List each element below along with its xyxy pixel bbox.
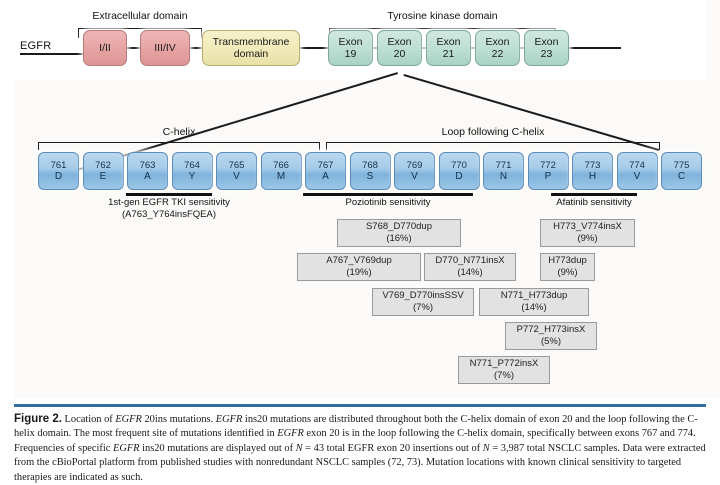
mutation-p772-h773insx-label: P772_H773insX: [517, 324, 586, 336]
residue-number-767: 767: [318, 160, 334, 172]
exon-box-22[interactable]: Exon22: [475, 30, 520, 66]
mutation-a767-v769dup[interactable]: A767_V769dup(19%): [297, 253, 421, 281]
domain-box-transmembrane-line-0: Transmembrane: [213, 36, 290, 48]
mutation-n771-h773dup[interactable]: N771_H773dup(14%): [479, 288, 589, 316]
backbone-connector-1: [127, 47, 140, 49]
exon-box-19[interactable]: Exon19: [328, 30, 373, 66]
exon-box-23[interactable]: Exon23: [524, 30, 569, 66]
residue-aa-775: C: [678, 171, 685, 183]
exon-box-20[interactable]: Exon20: [377, 30, 422, 66]
exon-box-21-line-1: 21: [443, 48, 455, 60]
residue-aa-772: P: [545, 171, 552, 183]
residue-box-764[interactable]: 764Y: [172, 152, 213, 190]
caption-s5: ins20 mutations are displayed out of: [140, 443, 296, 454]
residue-number-773: 773: [585, 160, 601, 172]
mutation-v769-d770inssv-label: V769_D770insSSV: [382, 290, 463, 302]
residue-aa-765: V: [233, 171, 240, 183]
exon-box-19-line-1: 19: [345, 48, 357, 60]
caption-i4: EGFR: [113, 443, 140, 454]
residue-number-769: 769: [407, 160, 423, 172]
residue-aa-769: V: [411, 171, 418, 183]
exon-box-23-line-0: Exon: [535, 36, 559, 48]
backbone-connector-3: [300, 47, 328, 49]
mutation-p772-h773insx-frequency: (5%): [541, 336, 561, 348]
mutation-d770-n771insx[interactable]: D770_N771insX(14%): [424, 253, 516, 281]
poziotinib-sensitivity-bar: [303, 193, 473, 196]
residue-box-769[interactable]: 769V: [394, 152, 435, 190]
mutation-h773dup[interactable]: H773dup(9%): [540, 253, 595, 281]
residue-number-761: 761: [51, 160, 67, 172]
residue-box-772[interactable]: 772P: [528, 152, 569, 190]
residue-box-768[interactable]: 768S: [350, 152, 391, 190]
mutation-d770-n771insx-frequency: (14%): [457, 267, 482, 279]
domain-box-III-IV[interactable]: III/IV: [140, 30, 190, 66]
mutation-s768-d770dup-frequency: (16%): [386, 233, 411, 245]
mutation-a767-v769dup-frequency: (19%): [346, 267, 371, 279]
mutation-a767-v769dup-label: A767_V769dup: [326, 255, 392, 267]
first-gen-tki-sensitivity-label: 1st-gen EGFR TKI sensitivity(A763_Y764in…: [64, 197, 274, 220]
residue-aa-764: Y: [189, 171, 196, 183]
residue-box-775[interactable]: 775C: [661, 152, 702, 190]
exon-box-23-line-1: 23: [541, 48, 553, 60]
backbone-connector-2: [190, 47, 202, 49]
residue-aa-762: E: [100, 171, 107, 183]
caption-i6: N: [483, 443, 490, 454]
residue-box-770[interactable]: 770D: [439, 152, 480, 190]
domain-box-transmembrane[interactable]: Transmembranedomain: [202, 30, 300, 66]
mutation-h773dup-label: H773dup: [548, 255, 587, 267]
caption-divider-rule: [14, 404, 706, 407]
poziotinib-sensitivity-label: Poziotinib sensitivity: [300, 197, 476, 209]
caption-s2: 20ins mutations.: [142, 414, 216, 425]
exon-box-20-line-1: 20: [394, 48, 406, 60]
residue-aa-761: D: [55, 171, 62, 183]
residue-number-768: 768: [362, 160, 378, 172]
residue-box-763[interactable]: 763A: [127, 152, 168, 190]
residue-box-767[interactable]: 767A: [305, 152, 346, 190]
residue-number-765: 765: [229, 160, 245, 172]
mutation-v769-d770inssv[interactable]: V769_D770insSSV(7%): [372, 288, 474, 316]
residue-aa-766: M: [277, 171, 285, 183]
residue-number-762: 762: [95, 160, 111, 172]
residue-number-763: 763: [140, 160, 156, 172]
mutation-n771-p772insx-label: N771_P772insX: [470, 358, 539, 370]
residue-box-766[interactable]: 766M: [261, 152, 302, 190]
first-gen-tki-sensitivity-bar: [126, 193, 212, 196]
residue-aa-768: S: [367, 171, 374, 183]
mutation-s768-d770dup[interactable]: S768_D770dup(16%): [337, 219, 461, 247]
zoom-bracket-label-1: Loop following C-helix: [326, 126, 660, 138]
backbone-line-right: [569, 47, 621, 49]
figure-egfr-20ins-mutations: EGFR Extracellular domainTyrosine kinase…: [0, 0, 720, 485]
afatinib-sensitivity-label: Afatinib sensitivity: [508, 197, 680, 209]
zoom-bracket-0: [38, 142, 320, 150]
figure-caption: Figure 2. Location of EGFR 20ins mutatio…: [14, 412, 706, 485]
mutation-n771-h773dup-frequency: (14%): [521, 302, 546, 314]
mutation-p772-h773insx[interactable]: P772_H773insX(5%): [505, 322, 597, 350]
caption-i1: EGFR: [115, 414, 142, 425]
first-gen-tki-sensitivity-label-line1: 1st-gen EGFR TKI sensitivity: [64, 197, 274, 209]
afatinib-sensitivity-bar: [551, 193, 637, 196]
residue-number-770: 770: [451, 160, 467, 172]
residue-number-771: 771: [496, 160, 512, 172]
top-bracket-label-0: Extracellular domain: [78, 10, 202, 22]
mutation-d770-n771insx-label: D770_N771insX: [435, 255, 504, 267]
caption-i5: N: [296, 443, 303, 454]
residue-aa-771: N: [500, 171, 507, 183]
residue-box-761[interactable]: 761D: [38, 152, 79, 190]
exon-box-21[interactable]: Exon21: [426, 30, 471, 66]
caption-i2: EGFR: [216, 414, 243, 425]
mutation-s768-d770dup-label: S768_D770dup: [366, 221, 432, 233]
residue-aa-770: D: [455, 171, 462, 183]
residue-aa-767: A: [322, 171, 329, 183]
mutation-h773dup-frequency: (9%): [557, 267, 577, 279]
mutation-h773-v774insx-label: H773_V774insX: [553, 221, 622, 233]
residue-box-762[interactable]: 762E: [83, 152, 124, 190]
mutation-n771-p772insx-frequency: (7%): [494, 370, 514, 382]
caption-i3: EGFR: [277, 428, 304, 439]
caption-s6: = 43 total EGFR exon 20 insertions out o…: [303, 443, 483, 454]
mutation-v769-d770inssv-frequency: (7%): [413, 302, 433, 314]
mutation-h773-v774insx-frequency: (9%): [577, 233, 597, 245]
backbone-line-left: [20, 53, 83, 55]
residue-box-773[interactable]: 773H: [572, 152, 613, 190]
residue-aa-763: A: [144, 171, 151, 183]
first-gen-tki-sensitivity-label-line2: (A763_Y764insFQEA): [64, 209, 274, 221]
mutation-n771-p772insx[interactable]: N771_P772insX(7%): [458, 356, 550, 384]
figure-number: Figure 2.: [14, 413, 62, 425]
residue-number-764: 764: [184, 160, 200, 172]
mutation-n771-h773dup-label: N771_H773dup: [501, 290, 568, 302]
residue-aa-773: H: [589, 171, 596, 183]
mutation-h773-v774insx[interactable]: H773_V774insX(9%): [540, 219, 635, 247]
exon-box-22-line-1: 22: [492, 48, 504, 60]
domain-box-III-IV-line-0: III/IV: [154, 42, 176, 54]
residue-aa-774: V: [634, 171, 641, 183]
afatinib-sensitivity-label-line1: Afatinib sensitivity: [508, 197, 680, 209]
residue-number-775: 775: [674, 160, 690, 172]
exon-box-22-line-0: Exon: [486, 36, 510, 48]
domain-box-transmembrane-line-1: domain: [234, 48, 268, 60]
caption-s1: Location of: [62, 414, 115, 425]
domain-box-I-II-line-0: I/II: [99, 42, 111, 54]
exon-box-19-line-0: Exon: [339, 36, 363, 48]
poziotinib-sensitivity-label-line1: Poziotinib sensitivity: [300, 197, 476, 209]
top-bracket-label-1: Tyrosine kinase domain: [329, 10, 556, 22]
residue-number-774: 774: [629, 160, 645, 172]
zoom-bracket-label-0: C-helix: [38, 126, 320, 138]
residue-box-774[interactable]: 774V: [617, 152, 658, 190]
exon-box-20-line-0: Exon: [388, 36, 412, 48]
domain-box-I-II[interactable]: I/II: [83, 30, 127, 66]
zoom-bracket-1: [326, 142, 660, 150]
residue-number-766: 766: [273, 160, 289, 172]
gene-label-egfr: EGFR: [20, 40, 51, 52]
residue-box-765[interactable]: 765V: [216, 152, 257, 190]
residue-number-772: 772: [540, 160, 556, 172]
exon-box-21-line-0: Exon: [437, 36, 461, 48]
residue-box-771[interactable]: 771N: [483, 152, 524, 190]
